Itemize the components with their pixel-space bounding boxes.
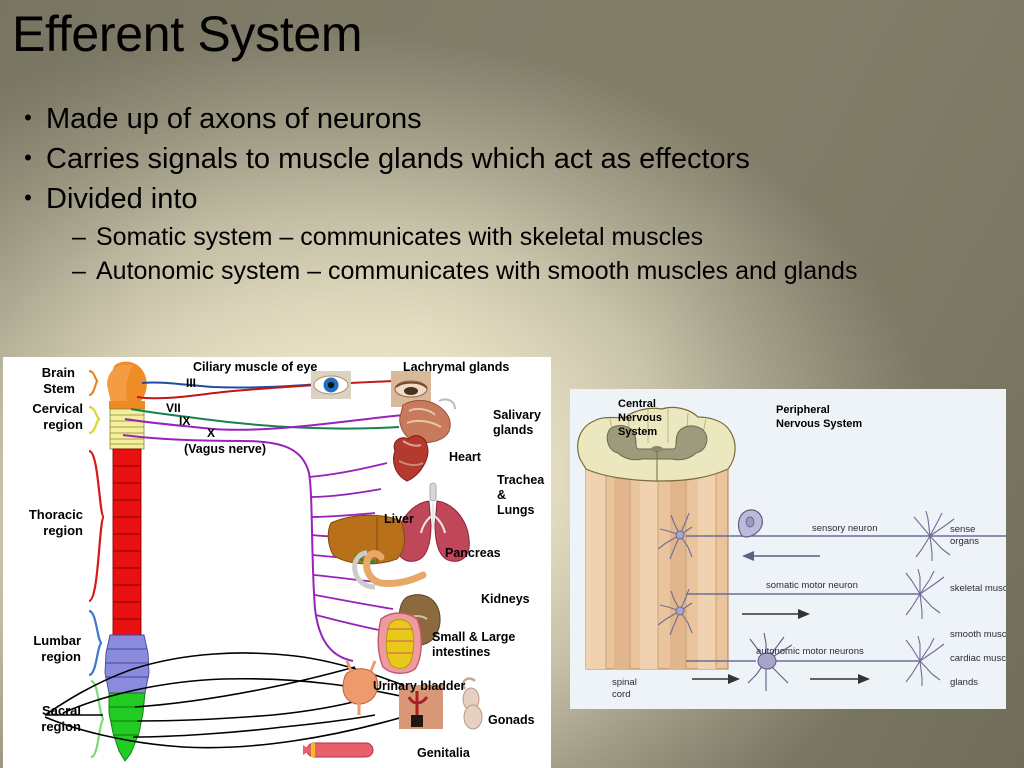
- bullet-marker: •: [10, 180, 46, 216]
- label-gonads: Gonads: [488, 713, 535, 727]
- label-genitalia: Genitalia: [417, 746, 471, 760]
- label-somatic-motor-neuron: somatic motor neuron: [766, 580, 858, 591]
- bullet-item: • Carries signals to muscle glands which…: [10, 140, 1010, 179]
- region-label-brain-stem-2: Stem: [43, 381, 75, 396]
- region-label-brain-stem: Brain: [42, 365, 75, 380]
- thoracic-segment: [113, 449, 141, 635]
- label-smooth-muscle: smooth muscle: [950, 629, 1006, 640]
- label-heart: Heart: [449, 450, 482, 464]
- label-autonomic-motor-neurons: autonomic motor neurons: [756, 646, 864, 657]
- heading-pns-line1: Peripheral: [776, 404, 830, 416]
- heading-cns-line2: Nervous: [618, 412, 662, 424]
- page-title: Efferent System: [12, 8, 362, 61]
- slide-canvas: Efferent System • Made up of axons of ne…: [0, 0, 1024, 768]
- region-label-cervical-2: region: [43, 417, 83, 432]
- label-trachea: Trachea: [497, 473, 545, 487]
- label-intestines-2: intestines: [432, 645, 490, 659]
- label-cardiac-muscle: cardiac muscle: [950, 653, 1006, 664]
- label-salivary-glands-2: glands: [493, 423, 533, 437]
- label-spinal-cord-1: spinal: [612, 677, 637, 688]
- label-salivary-glands: Salivary: [493, 408, 541, 422]
- organ-icon-genitalia-lower: [303, 743, 373, 757]
- label-lungs: Lungs: [497, 503, 535, 517]
- region-label-lumbar: Lumbar: [33, 633, 81, 648]
- label-lachrymal-glands: Lachrymal glands: [403, 360, 509, 374]
- region-label-thoracic-2: region: [43, 523, 83, 538]
- label-spinal-cord-2: cord: [612, 689, 630, 700]
- label-kidneys: Kidneys: [481, 592, 530, 606]
- heading-pns-line2: Nervous System: [776, 418, 862, 430]
- label-sense-organs-1: sense: [950, 524, 975, 535]
- label-cranial-nerve-VII: VII: [166, 401, 181, 415]
- label-pancreas: Pancreas: [445, 546, 501, 560]
- label-cranial-nerve-IX: IX: [179, 414, 190, 428]
- bullet-list: • Made up of axons of neurons • Carries …: [10, 100, 1010, 288]
- organ-icon-eye: [311, 371, 351, 399]
- bullet-marker: •: [10, 140, 46, 176]
- heading-cns-line3: System: [618, 426, 657, 438]
- heading-cns-line1: Central: [618, 398, 656, 410]
- region-label-cervical: Cervical: [32, 401, 83, 416]
- bullet-marker: •: [10, 100, 46, 136]
- label-intestines: Small & Large: [432, 630, 515, 644]
- sub-bullet-text: Somatic system – communicates with skele…: [96, 220, 986, 254]
- region-label-sacral-2: region: [41, 719, 81, 734]
- autonomic-nervous-system-figure: Brain Stem Cervical region Thoracic regi…: [3, 357, 551, 768]
- label-liver: Liver: [384, 512, 414, 526]
- region-label-thoracic: Thoracic: [29, 507, 83, 522]
- region-label-lumbar-2: region: [41, 649, 81, 664]
- label-cranial-nerve-X: X: [207, 426, 215, 440]
- sub-bullet-marker: –: [62, 220, 96, 254]
- label-urinary-bladder: Urinary bladder: [373, 679, 466, 693]
- cns-pns-neuron-figure: Central Nervous System Peripheral Nervou…: [570, 389, 1006, 709]
- bullet-item: • Divided into: [10, 180, 1010, 219]
- label-sensory-neuron: sensory neuron: [812, 523, 877, 534]
- cervical-segment: [110, 409, 144, 449]
- spinal-cord-illustration: [578, 407, 735, 669]
- sub-bullet-item: – Autonomic system – communicates with s…: [62, 254, 1010, 288]
- sub-bullet-marker: –: [62, 254, 96, 288]
- label-ciliary-muscle: Ciliary muscle of eye: [193, 360, 317, 374]
- lumbar-segment: [105, 635, 149, 693]
- sub-bullet-text: Autonomic system – communicates with smo…: [96, 254, 986, 288]
- bullet-text: Made up of axons of neurons: [46, 100, 1010, 139]
- label-skeletal-muscles: skeletal muscles: [950, 583, 1006, 594]
- label-trachea-amp: &: [497, 488, 506, 502]
- label-cranial-nerve-III: III: [186, 376, 196, 390]
- bullet-text: Divided into: [46, 180, 1010, 219]
- label-glands: glands: [950, 677, 978, 688]
- label-vagus-nerve-caption: (Vagus nerve): [184, 442, 266, 456]
- bullet-text: Carries signals to muscle glands which a…: [46, 140, 1010, 179]
- label-sense-organs-2: organs: [950, 536, 979, 547]
- bullet-item: • Made up of axons of neurons: [10, 100, 1010, 139]
- sub-bullet-item: – Somatic system – communicates with ske…: [62, 220, 1010, 254]
